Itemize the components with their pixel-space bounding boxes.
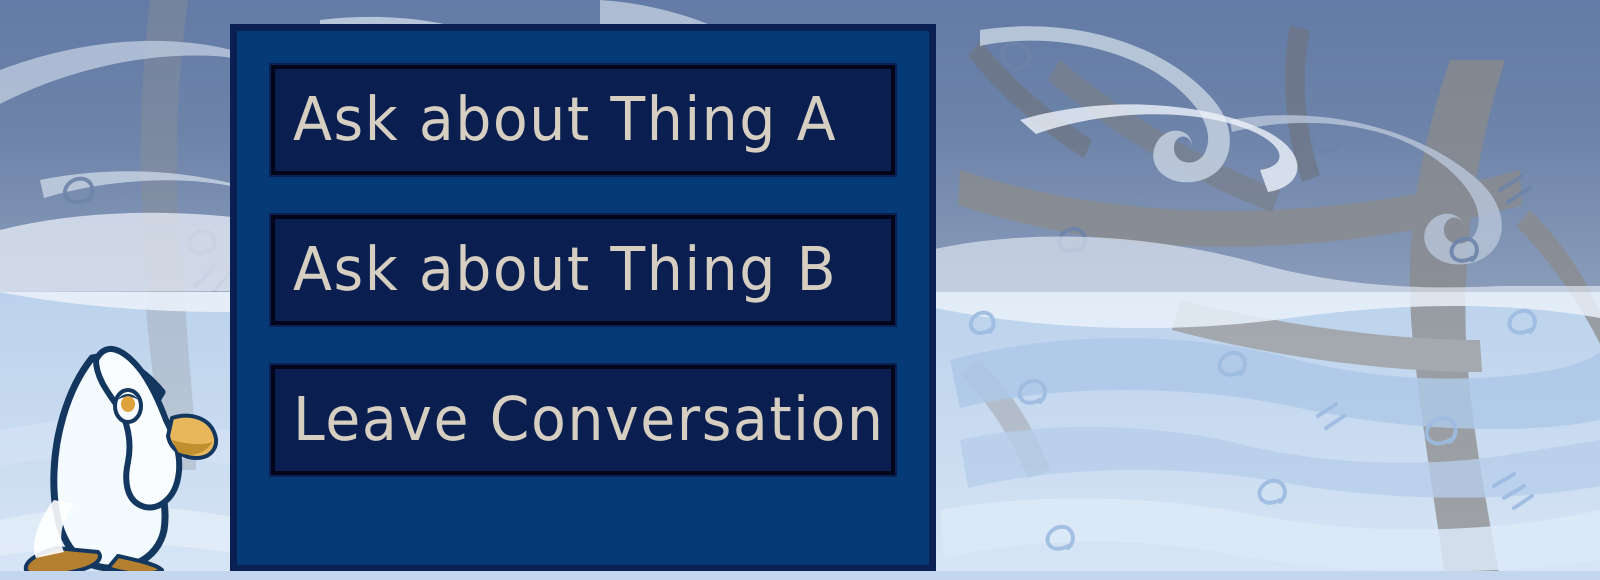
bottom-edge-band	[0, 571, 1600, 580]
choice-button-leave-conversation[interactable]: Leave Conversation	[271, 365, 895, 475]
game-screen: Ask about Thing A Ask about Thing B Leav…	[0, 0, 1600, 580]
choice-button-ask-thing-b[interactable]: Ask about Thing B	[271, 215, 895, 325]
conversation-choice-panel: Ask about Thing A Ask about Thing B Leav…	[230, 24, 936, 572]
choice-button-ask-thing-a[interactable]: Ask about Thing A	[271, 65, 895, 175]
choice-label: Ask about Thing B	[293, 240, 837, 300]
choice-list: Ask about Thing A Ask about Thing B Leav…	[271, 65, 895, 475]
choice-label: Leave Conversation	[293, 390, 885, 450]
choice-label: Ask about Thing A	[293, 90, 837, 150]
